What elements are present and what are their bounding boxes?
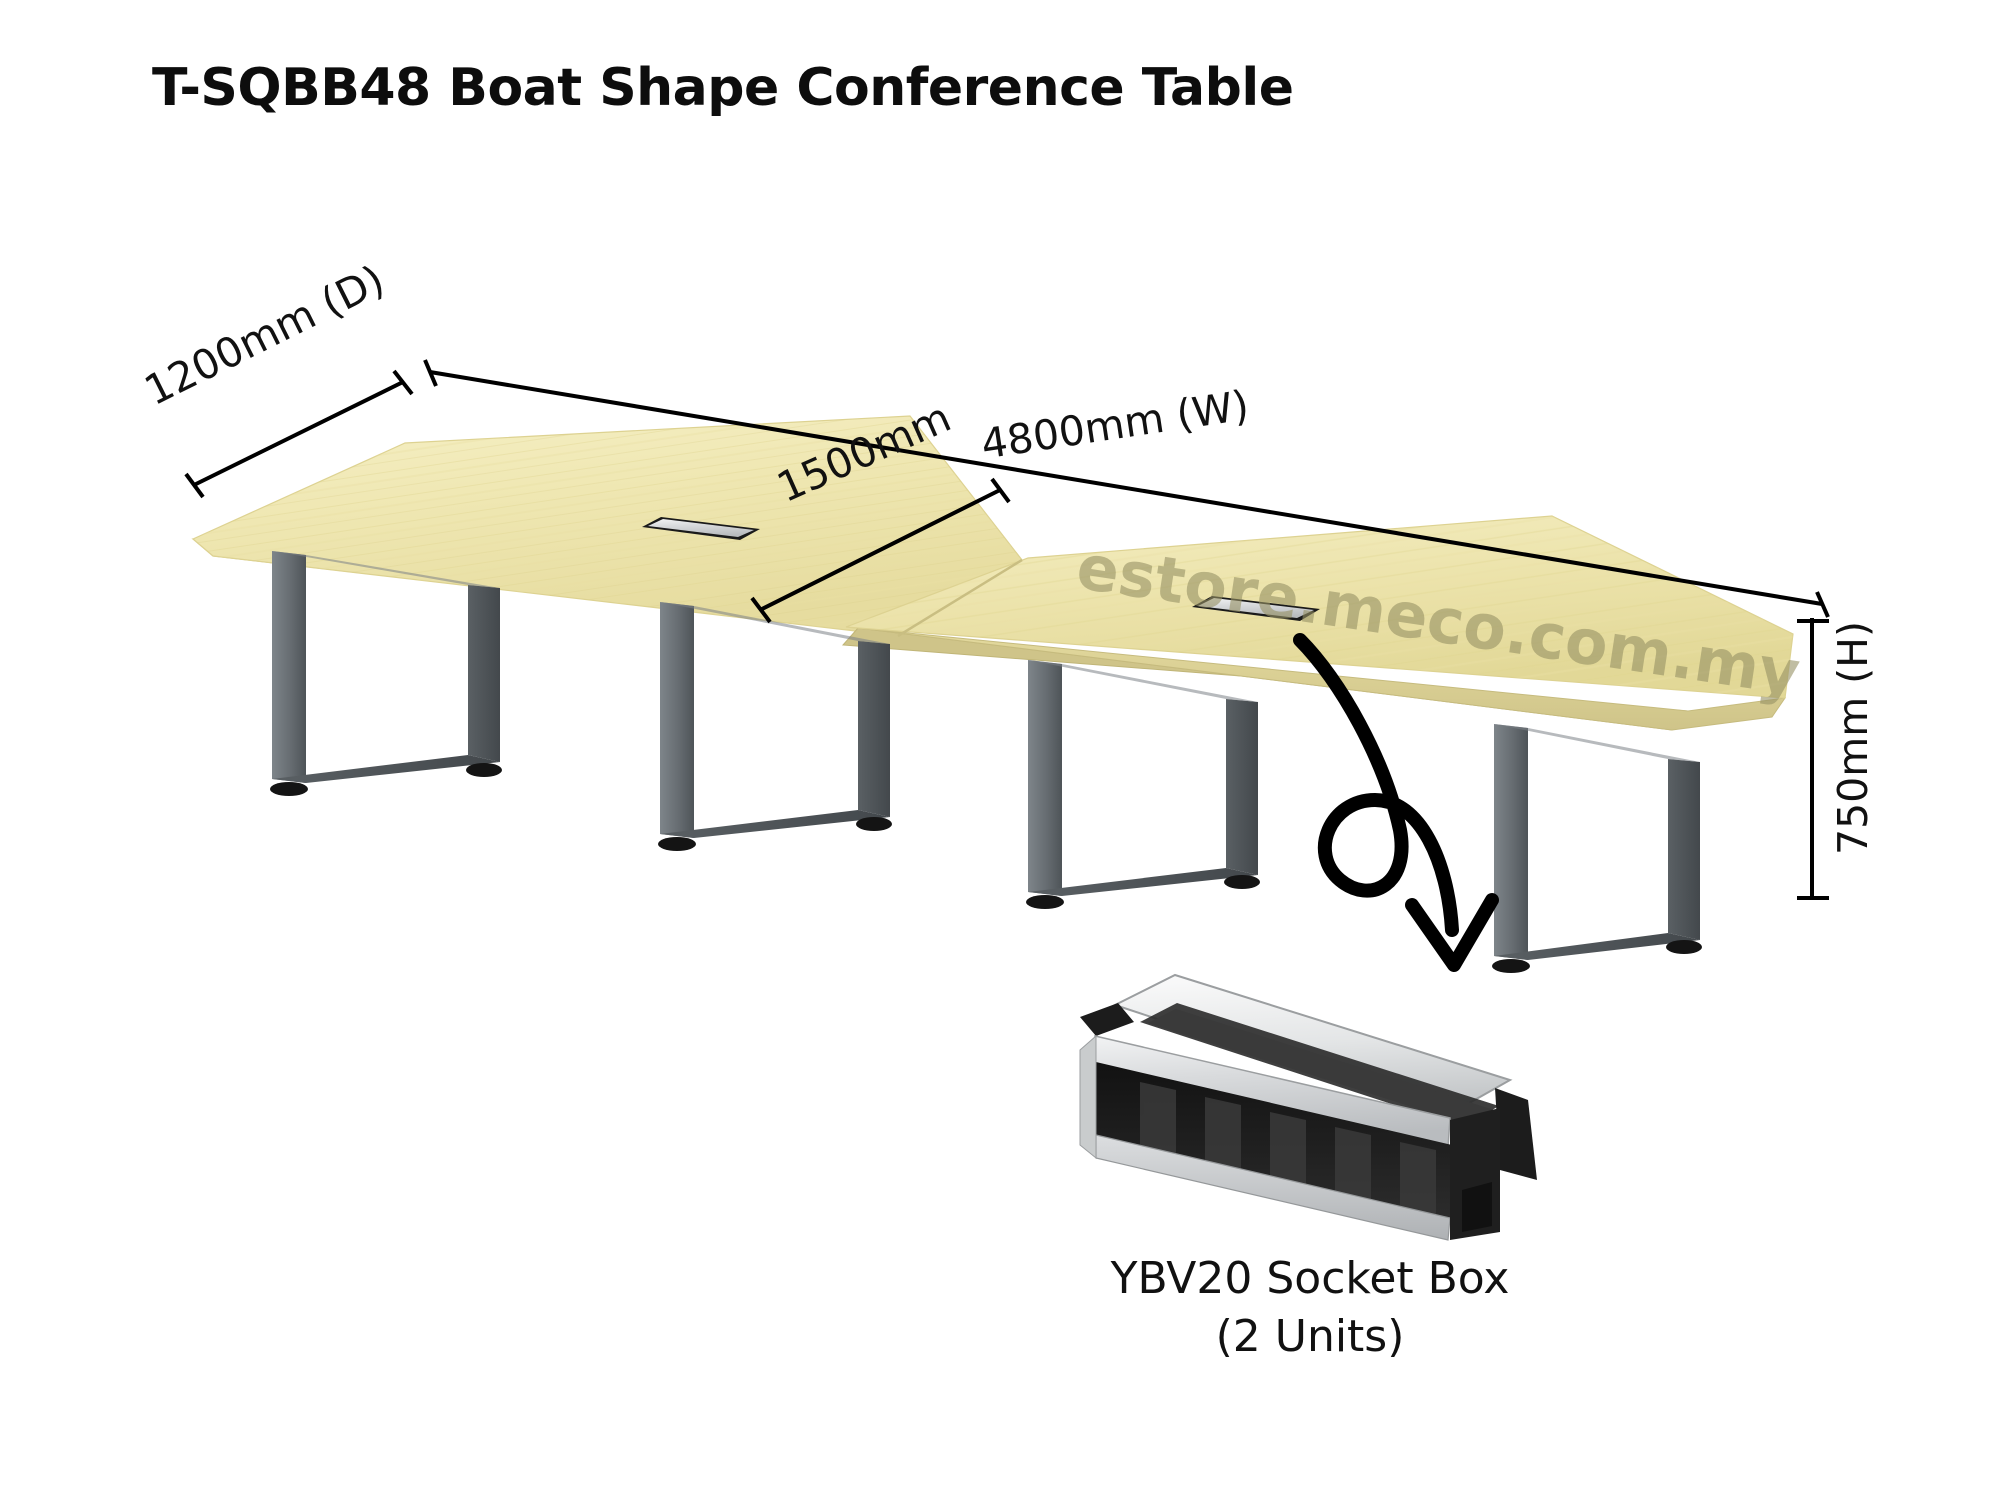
table-leg-4 — [1492, 724, 1702, 973]
socket-box-caption: YBV20 Socket Box (2 Units) — [1080, 1250, 1540, 1366]
socket-box-product-image — [1080, 975, 1537, 1240]
dimension-label-height: 750mm (H) — [1829, 621, 1877, 855]
product-illustration — [0, 0, 2000, 1487]
socket-box-name: YBV20 Socket Box — [1080, 1250, 1540, 1308]
table-leg-1 — [270, 551, 502, 796]
table-leg-2 — [658, 602, 892, 851]
socket-box-quantity: (2 Units) — [1080, 1308, 1540, 1366]
table-leg-3 — [1026, 660, 1260, 909]
